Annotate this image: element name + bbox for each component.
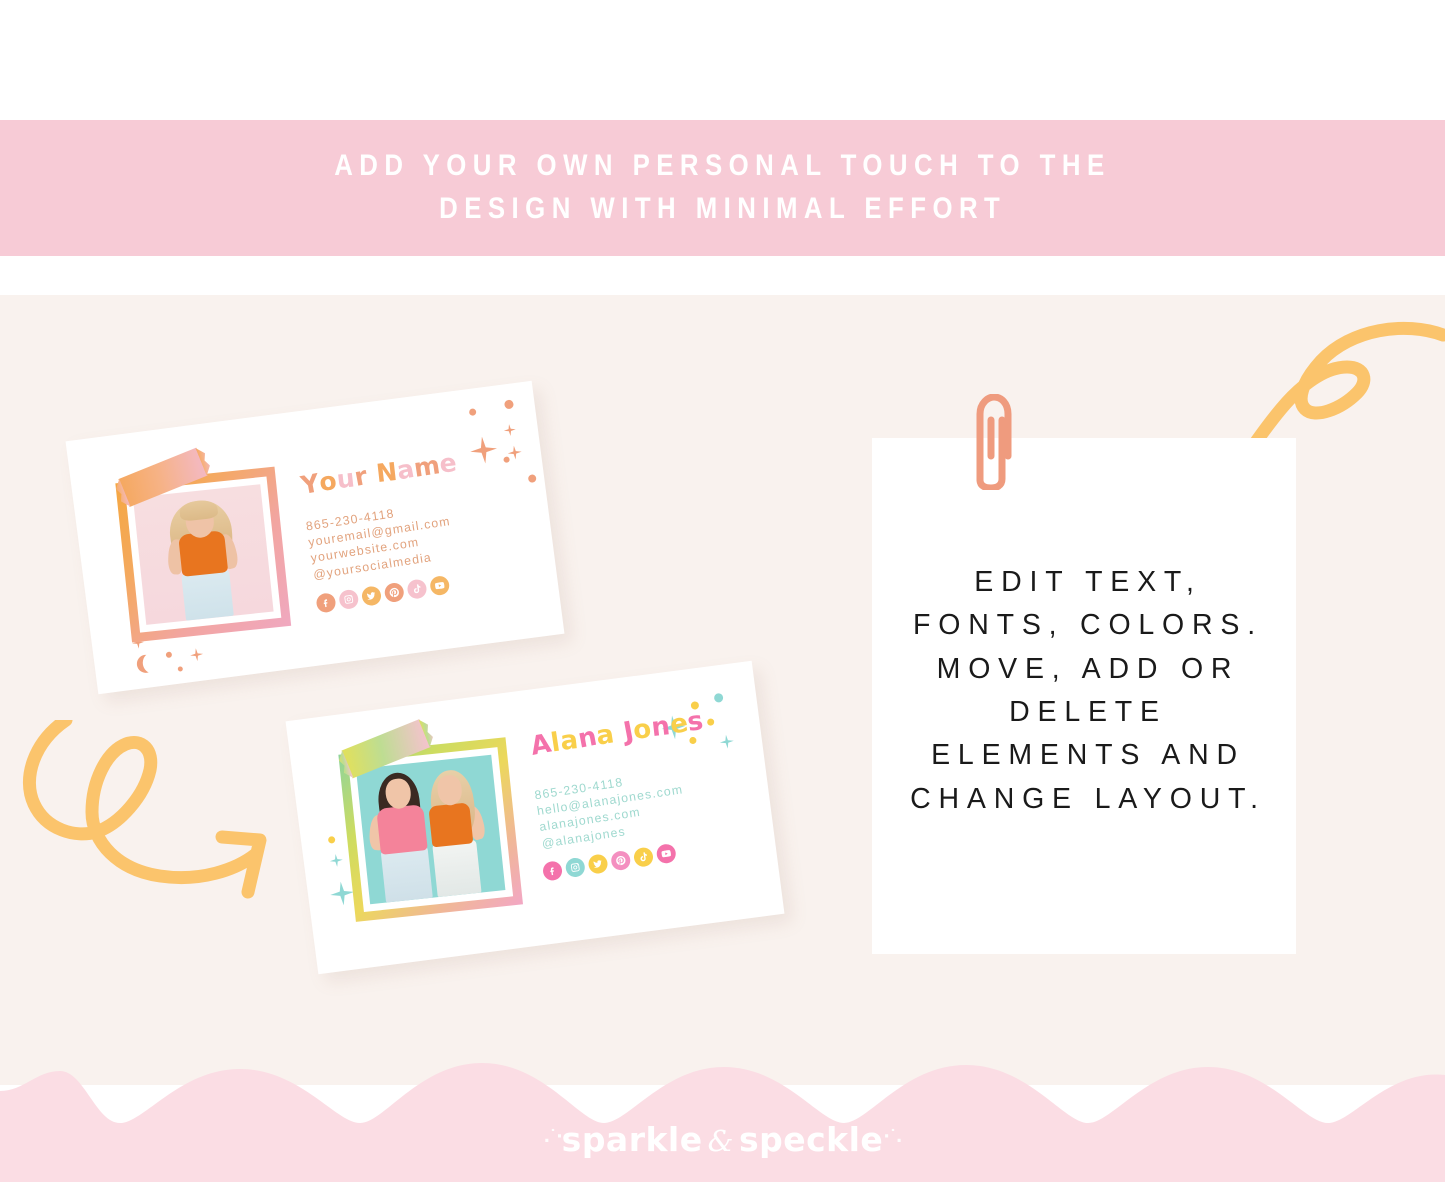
curved-arrow-right-icon (20, 720, 300, 905)
card-name: Alana Jones (529, 706, 706, 762)
decor-dot (469, 408, 477, 416)
tiktok-icon[interactable] (406, 578, 428, 600)
photo-frame (338, 737, 523, 922)
logo-sparkle-right: ·˙․ (883, 1127, 901, 1147)
business-card-sample[interactable]: Alana Jones 865-230-4118hello@alanajones… (286, 661, 785, 974)
facebook-icon[interactable] (315, 592, 337, 614)
main-canvas: Your Name 865-230-4118youremail@gmail.co… (0, 295, 1445, 1085)
decor-dot (166, 651, 173, 658)
name-letter: e (438, 448, 458, 479)
decor-sparkle (719, 734, 735, 750)
logo-text-sparkle: sparkle (562, 1120, 703, 1159)
portrait-photo (356, 755, 505, 904)
instagram-icon[interactable] (338, 589, 360, 611)
decor-sparkle (469, 435, 499, 465)
youtube-icon[interactable] (429, 575, 451, 597)
photo-frame (115, 467, 291, 643)
logo-ampersand: & (703, 1124, 739, 1158)
card-name: Your Name (299, 448, 459, 500)
decor-moon (136, 654, 156, 674)
pinterest-icon[interactable] (383, 582, 405, 604)
social-icons-row[interactable] (315, 575, 450, 614)
decor-dot (503, 456, 510, 463)
logo-sparkle-left: ․˙· (544, 1127, 562, 1147)
logo-text-speckle: speckle (739, 1120, 883, 1159)
decor-dot (707, 718, 715, 726)
twitter-icon[interactable] (361, 585, 383, 607)
header-banner: ADD YOUR OWN PERSONAL TOUCH TO THE DESIG… (0, 120, 1445, 256)
decor-sparkle (329, 853, 344, 868)
instruction-panel: Edit text, fonts, colors. Move, add or d… (872, 438, 1296, 954)
youtube-icon[interactable] (655, 843, 677, 865)
name-letter: s (685, 706, 705, 738)
header-line-2: DESIGN WITH MINIMAL EFFORT (439, 188, 1006, 231)
mid-white-band (0, 256, 1445, 295)
decor-dot (504, 399, 514, 409)
tiktok-icon[interactable] (633, 846, 655, 868)
paperclip-icon (960, 394, 1024, 490)
business-card-front[interactable]: Your Name 865-230-4118youremail@gmail.co… (66, 381, 565, 694)
portrait-photo (133, 484, 274, 625)
brand-logo: ․˙·sparkle&speckle·˙․ (0, 1120, 1445, 1159)
top-white-band (0, 0, 1445, 120)
instruction-text: Edit text, fonts, colors. Move, add or d… (872, 561, 1296, 831)
decor-dot (178, 666, 184, 672)
twitter-icon[interactable] (587, 853, 609, 875)
facebook-icon[interactable] (542, 860, 564, 882)
frame-mat (348, 747, 513, 912)
decor-sparkle (189, 647, 204, 662)
footer: ․˙·sparkle&speckle·˙․ (0, 1061, 1445, 1182)
card-contact: 865-230-4118youremail@gmail.comyourwebsi… (305, 497, 457, 583)
decor-sparkle (503, 423, 516, 436)
card-contact: 865-230-4118hello@alanajones.comalanajon… (533, 765, 689, 851)
decor-dot (328, 836, 336, 844)
header-line-1: ADD YOUR OWN PERSONAL TOUCH TO THE (334, 145, 1110, 188)
instagram-icon[interactable] (564, 857, 586, 879)
decor-dot (714, 693, 724, 703)
pinterest-icon[interactable] (610, 850, 632, 872)
frame-mat (125, 477, 281, 633)
decor-dot (528, 474, 537, 483)
